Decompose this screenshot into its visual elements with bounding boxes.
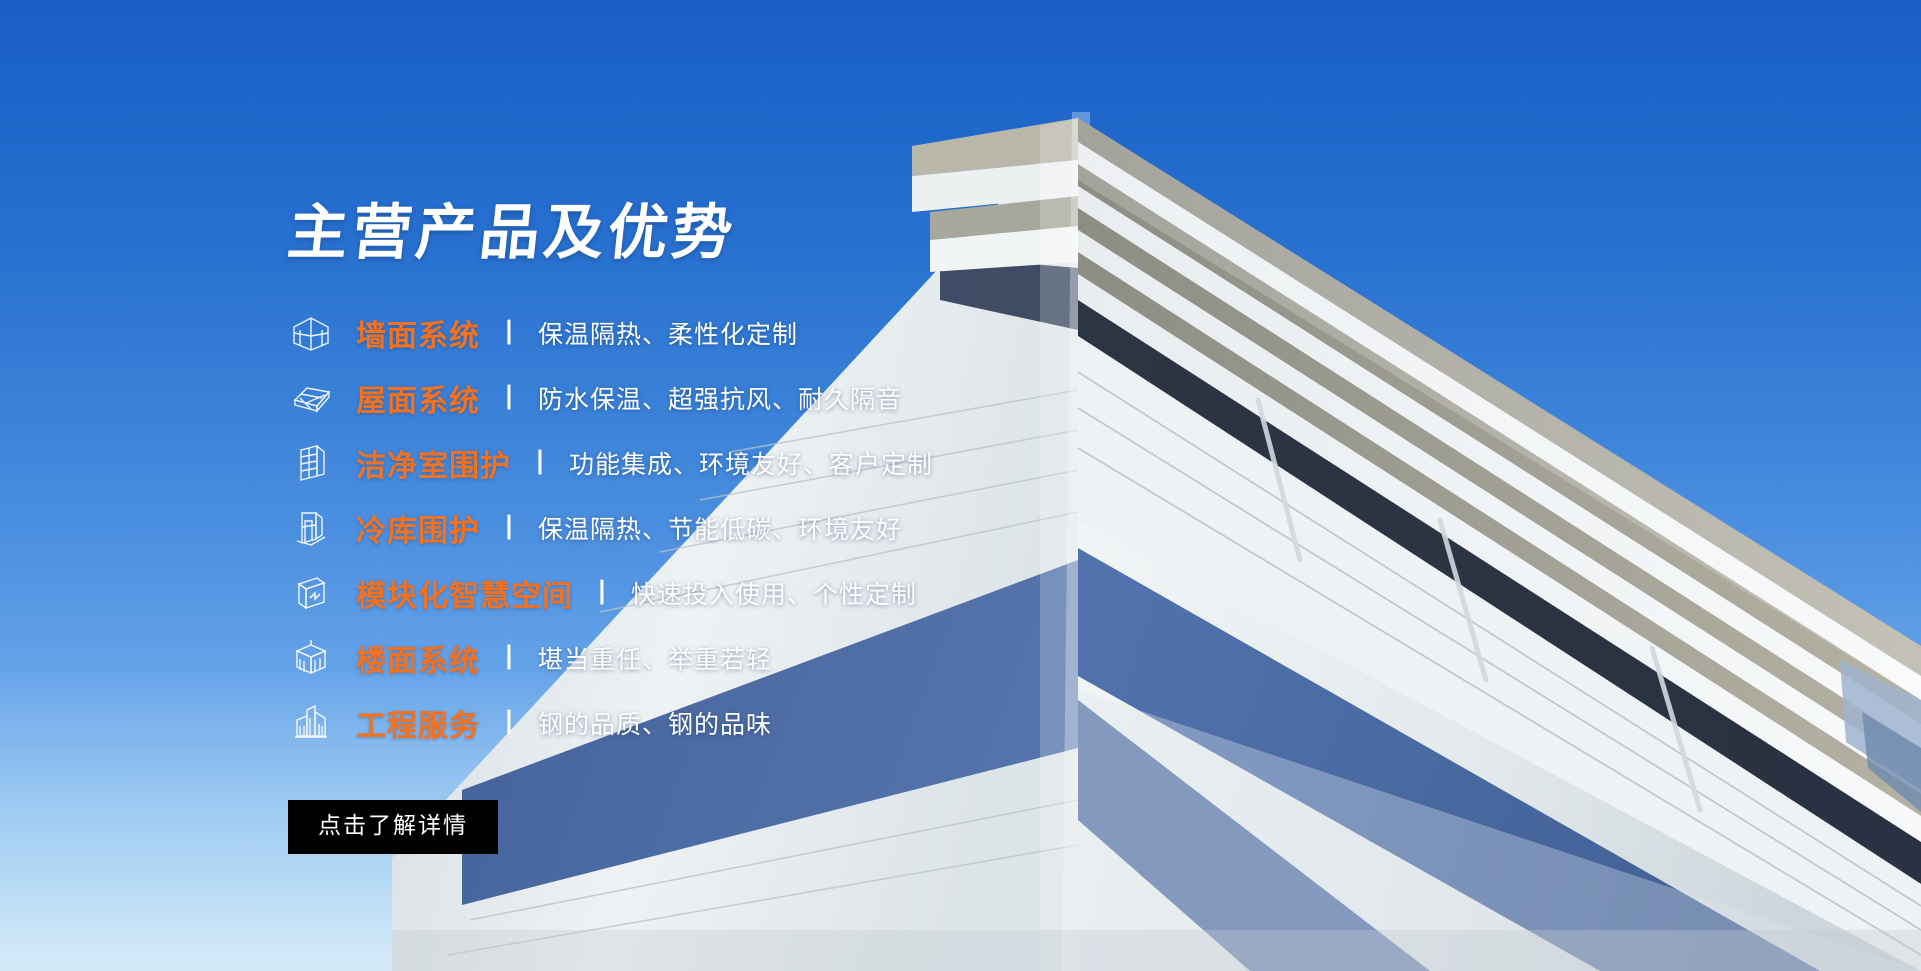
product-name: 墙面系统: [356, 311, 480, 355]
product-name: 屋面系统: [356, 376, 480, 420]
product-desc: 防水保温、超强抗风、耐久隔音: [538, 380, 902, 416]
separator-bar: 丨: [496, 638, 522, 675]
product-name: 工程服务: [356, 701, 480, 745]
separator-bar: 丨: [589, 573, 615, 610]
floor-deck-icon: [288, 635, 334, 681]
product-desc: 保温隔热、节能低碳、环境友好: [538, 510, 902, 546]
list-item[interactable]: 洁净室围护 丨 功能集成、环境友好、客户定制: [288, 430, 1188, 495]
product-desc: 功能集成、环境友好、客户定制: [569, 445, 933, 481]
separator-bar: 丨: [496, 703, 522, 740]
list-item[interactable]: 屋面系统 丨 防水保温、超强抗风、耐久隔音: [288, 365, 1188, 430]
product-desc: 快速投入使用、个性定制: [631, 575, 917, 611]
product-name: 模块化智慧空间: [356, 571, 573, 615]
product-desc: 堪当重任、举重若轻: [538, 640, 772, 676]
list-item[interactable]: 模块化智慧空间 丨 快速投入使用、个性定制: [288, 560, 1188, 625]
learn-more-button[interactable]: 点击了解详情: [288, 800, 498, 854]
engineering-service-icon: [288, 700, 334, 746]
separator-bar: 丨: [496, 508, 522, 545]
list-item[interactable]: 楼面系统 丨 堪当重任、举重若轻: [288, 625, 1188, 690]
cleanroom-building-icon: [288, 440, 334, 486]
separator-bar: 丨: [496, 378, 522, 415]
product-name: 冷库围护: [356, 506, 480, 550]
product-desc: 钢的品质、钢的品味: [538, 705, 772, 741]
product-desc: 保温隔热、柔性化定制: [538, 315, 798, 351]
list-item[interactable]: 墙面系统 丨 保温隔热、柔性化定制: [288, 300, 1188, 365]
roof-panel-icon: [288, 375, 334, 421]
page-title: 主营产品及优势: [285, 203, 739, 263]
list-item[interactable]: 工程服务 丨 钢的品质、钢的品味: [288, 690, 1188, 755]
list-item[interactable]: 冷库围护 丨 保温隔热、节能低碳、环境友好: [288, 495, 1188, 560]
separator-bar: 丨: [496, 313, 522, 350]
separator-bar: 丨: [527, 443, 553, 480]
product-list: 墙面系统 丨 保温隔热、柔性化定制 屋面系统 丨: [288, 300, 1188, 755]
product-name: 楼面系统: [356, 636, 480, 680]
wall-frame-icon: [288, 310, 334, 356]
content-column: 主营产品及优势 墙面系统 丨 保温隔热、柔性化定制: [0, 0, 1000, 971]
cold-storage-icon: [288, 505, 334, 551]
modular-cube-icon: [288, 570, 334, 616]
product-name: 洁净室围护: [356, 441, 511, 485]
product-advantages-banner: 主营产品及优势 墙面系统 丨 保温隔热、柔性化定制: [0, 0, 1921, 971]
